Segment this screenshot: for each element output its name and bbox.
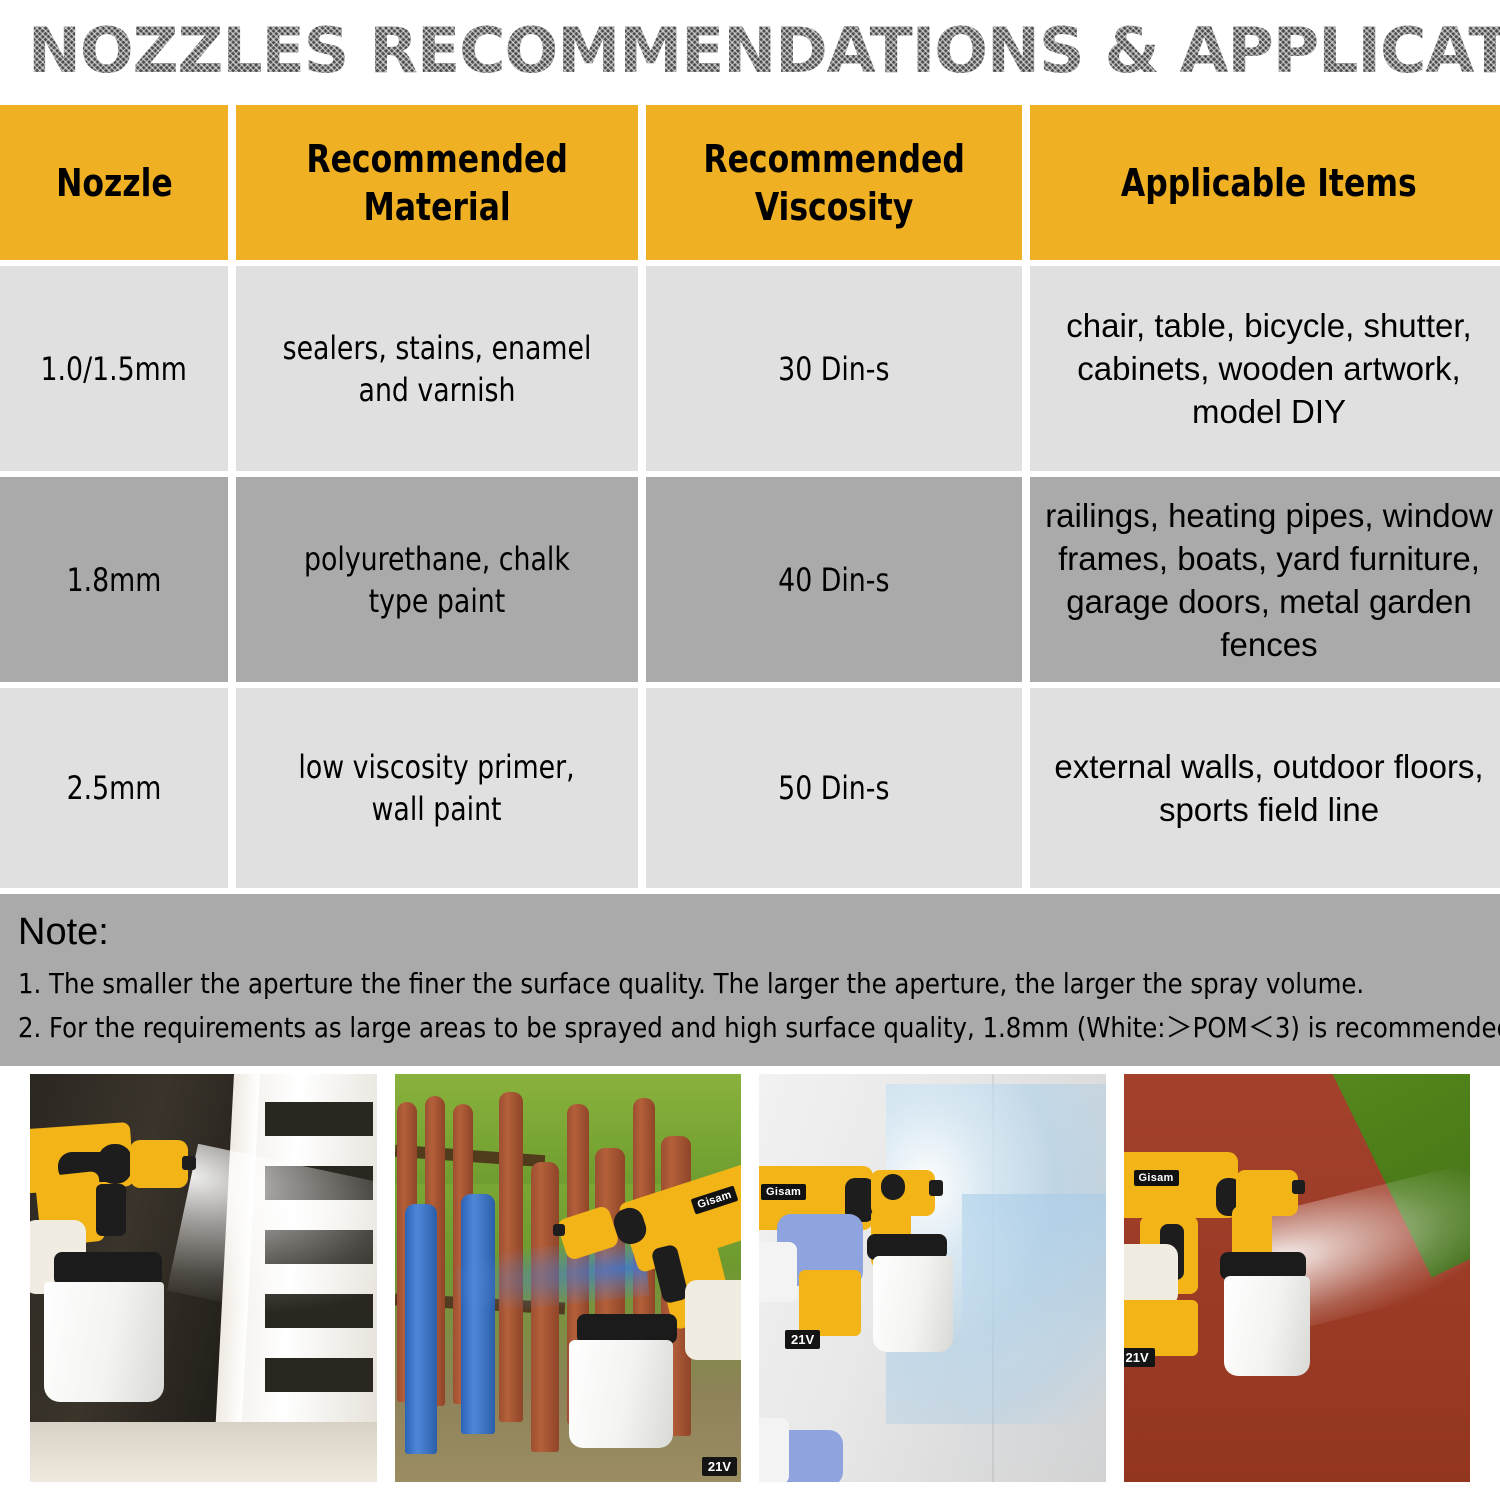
photo1-gun-grip-pad — [96, 1184, 126, 1236]
cell-material-line1: sealers, stains, enamel — [283, 327, 592, 369]
column-header-items: Applicable Items — [1030, 105, 1500, 260]
cell-nozzle: 2.5mm — [0, 688, 228, 888]
cell-viscosity-value: 30 Din-s — [778, 348, 889, 390]
cell-items-line2: cabinets, wooden artwork, — [1066, 347, 1471, 390]
photo3-gun-knob — [881, 1174, 905, 1200]
photo-wall-spraying: Gisam 21V — [759, 1074, 1106, 1482]
photo3-battery-label: 21V — [785, 1330, 820, 1349]
page-title: NOZZLES RECOMMENDATIONS & APPLICATIONS — [28, 8, 1500, 94]
cell-items-line1: chair, table, bicycle, shutter, — [1066, 304, 1471, 347]
column-header-items-label: Applicable Items — [1121, 159, 1417, 207]
cell-material-line1: polyurethane, chalk — [304, 538, 570, 580]
photo3-sleeve-lower — [759, 1418, 789, 1482]
note-section: Note: 1. The smaller the aperture the fi… — [0, 894, 1500, 1066]
cell-material: polyurethane, chalk type paint — [236, 477, 638, 682]
note-line-1: 1. The smaller the aperture the finer th… — [18, 962, 1438, 1006]
photo-fence-spraying: Gisam 21V — [395, 1074, 742, 1482]
column-header-material-line1: Recommended — [306, 135, 567, 183]
cell-nozzle: 1.0/1.5mm — [0, 266, 228, 471]
cell-material-line1: low viscosity primer, — [299, 746, 575, 788]
photo4-battery-label: 21V — [1124, 1348, 1155, 1367]
photo4-paint-cup — [1224, 1276, 1310, 1376]
photo3-gun-nozzle-tip — [929, 1180, 943, 1196]
cell-material-line2: type paint — [304, 580, 570, 622]
photo4-brand-label: Gisam — [1134, 1170, 1179, 1186]
cell-items: external walls, outdoor floors, sports f… — [1030, 688, 1500, 888]
cell-items-line3: garage doors, metal garden — [1045, 580, 1493, 623]
photo1-slat — [265, 1358, 373, 1392]
table-row: 1.8mm polyurethane, chalk type paint 40 … — [0, 477, 1500, 682]
cell-nozzle-value: 1.0/1.5mm — [41, 348, 187, 390]
photo1-sill — [30, 1422, 377, 1482]
column-header-nozzle-label: Nozzle — [56, 159, 173, 207]
photo-strip: Gisam 21V Gisam 21V — [0, 1074, 1500, 1482]
cell-items-line3: model DIY — [1066, 390, 1471, 433]
column-header-viscosity: Recommended Viscosity — [646, 105, 1022, 260]
cell-nozzle: 1.8mm — [0, 477, 228, 682]
photo3-brand-label: Gisam — [761, 1184, 806, 1200]
photo4-glove — [1124, 1244, 1178, 1306]
column-header-nozzle: Nozzle — [0, 105, 228, 260]
cell-items-line4: fences — [1045, 623, 1493, 666]
cell-nozzle-value: 1.8mm — [67, 559, 162, 601]
cell-viscosity: 40 Din-s — [646, 477, 1022, 682]
photo1-gun-knob — [98, 1144, 132, 1184]
photo3-sleeve — [759, 1242, 797, 1302]
cell-material: low viscosity primer, wall paint — [236, 688, 638, 888]
table-row: 2.5mm low viscosity primer, wall paint 5… — [0, 688, 1500, 888]
column-header-viscosity-line2: Viscosity — [703, 183, 964, 231]
note-line-2: 2. For the requirements as large areas t… — [18, 1006, 1438, 1050]
cell-material: sealers, stains, enamel and varnish — [236, 266, 638, 471]
table-header-row: Nozzle Recommended Material Recommended … — [0, 105, 1500, 260]
photo3-battery-body — [799, 1270, 861, 1336]
photo1-gun-nozzle-housing — [130, 1140, 188, 1188]
cell-material-line2: and varnish — [283, 369, 592, 411]
cell-viscosity-value: 40 Din-s — [778, 559, 889, 601]
column-header-material: Recommended Material — [236, 105, 638, 260]
photo2-glove — [685, 1280, 741, 1360]
cell-viscosity: 50 Din-s — [646, 688, 1022, 888]
photo2-gun-nozzle-tip — [553, 1224, 565, 1236]
cell-nozzle-value: 2.5mm — [67, 767, 162, 809]
column-header-material-line2: Material — [306, 183, 567, 231]
cell-items-line2: sports field line — [1054, 788, 1483, 831]
photo2-paint-cup — [569, 1340, 673, 1448]
photo1-gun-nozzle-tip — [182, 1156, 196, 1170]
title-band: NOZZLES RECOMMENDATIONS & APPLICATIONS — [0, 0, 1500, 105]
photo3-paint-cup — [873, 1256, 953, 1352]
photo4-gun-nozzle-tip — [1292, 1180, 1305, 1194]
column-header-viscosity-line1: Recommended — [703, 135, 964, 183]
nozzle-table: Nozzle Recommended Material Recommended … — [0, 105, 1500, 888]
cell-items-line2: frames, boats, yard furniture, — [1045, 537, 1493, 580]
photo2-post-blue — [405, 1204, 437, 1454]
cell-material-line2: wall paint — [299, 788, 575, 830]
note-label: Note: — [18, 908, 1482, 956]
cell-items-line1: railings, heating pipes, window — [1045, 494, 1493, 537]
table-row: 1.0/1.5mm sealers, stains, enamel and va… — [0, 266, 1500, 471]
photo1-slat — [265, 1102, 373, 1136]
photo-track-line-spraying: Gisam 21V — [1124, 1074, 1471, 1482]
cell-items: chair, table, bicycle, shutter, cabinets… — [1030, 266, 1500, 471]
cell-viscosity-value: 50 Din-s — [778, 767, 889, 809]
cell-items-line1: external walls, outdoor floors, — [1054, 745, 1483, 788]
photo3-blue-mist-lower — [962, 1194, 1106, 1482]
photo2-battery-label: 21V — [702, 1457, 737, 1476]
cell-items: railings, heating pipes, window frames, … — [1030, 477, 1500, 682]
cell-viscosity: 30 Din-s — [646, 266, 1022, 471]
photo-shutter-spraying — [30, 1074, 377, 1482]
photo1-paint-cup — [44, 1282, 164, 1402]
photo1-cup-collar — [54, 1252, 162, 1286]
